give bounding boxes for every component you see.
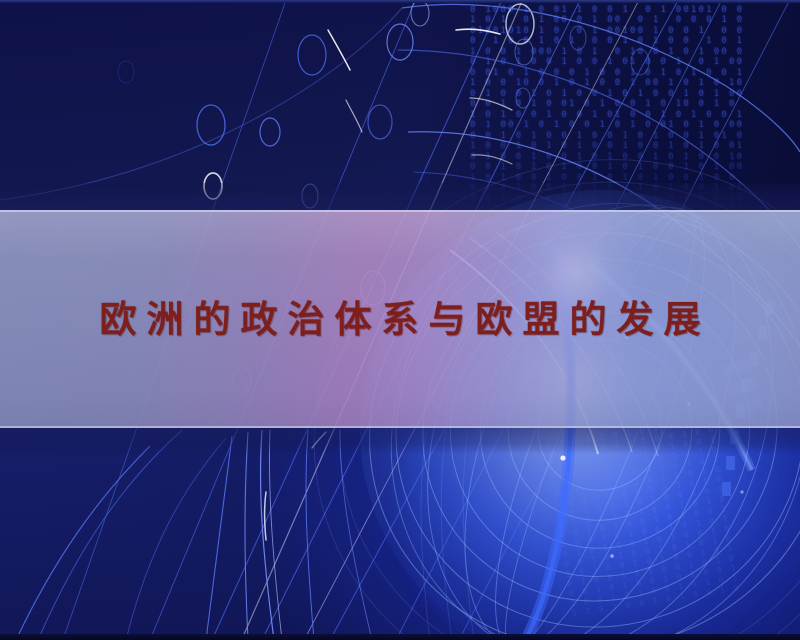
title-container: 欧洲的政治体系与欧盟的发展 [0,210,800,428]
top-edge-strip [0,0,800,3]
bottom-edge-strip [0,634,800,640]
band-upper-shadow [0,183,800,210]
slide-title: 欧洲的政治体系与欧盟的发展 [90,301,711,338]
band-lower-shadow [0,428,800,454]
presentation-slide: 0 1 0 0 1 0 00 1 0 0 01000110 0 1 0 1000… [0,0,800,640]
